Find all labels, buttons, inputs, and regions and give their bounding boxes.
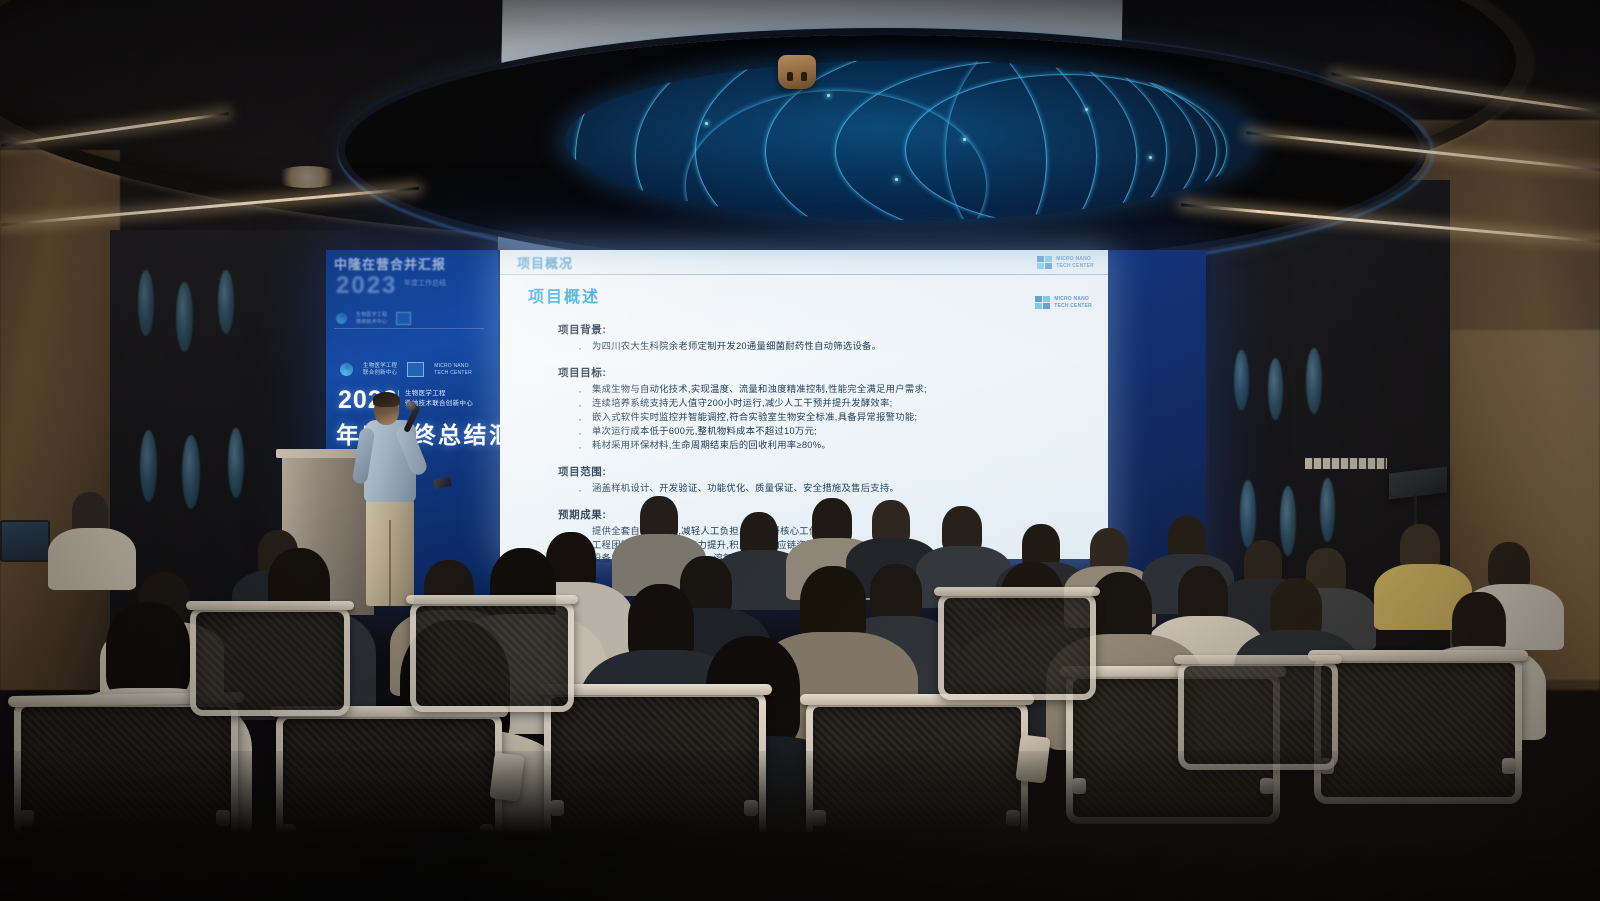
slide-header-bar: 项目概况 MICRO NANOTECH CENTER [500, 250, 1108, 275]
banner-divider [334, 328, 484, 329]
audience-body [48, 528, 136, 590]
presentation-slide: 项目概况 MICRO NANOTECH CENTER 项目概述 MICRO NA… [500, 250, 1108, 559]
section-bullet: 单次运行成本低于600元,整机物料成本不超过10万元; [558, 425, 1082, 439]
banner-header-number-sub: 年度工作总结 [404, 278, 446, 288]
logo-line-1: MICRO NANO [1054, 296, 1089, 302]
audience-head [1488, 542, 1530, 590]
section-bullet: 为四川农大生科院余老师定制开发20通量细菌耐药性自动筛选设备。 [558, 340, 1082, 354]
ceiling-spot-light [272, 166, 342, 188]
section-heading: 项目背景: [558, 322, 1082, 337]
slide-header-title: 项目概况 [517, 253, 573, 272]
ceiling-hanging-microphone [778, 55, 816, 89]
micro-nano-logo-icon [1035, 296, 1050, 309]
confidence-monitor [0, 520, 50, 562]
slide-title: 项目概述 [528, 283, 600, 307]
slide-section: 项目背景: 为四川农大生科院余老师定制开发20通量细菌耐药性自动筛选设备。 [558, 322, 1082, 354]
banner-top-logos: 生物医学工程微纳技术中心 [336, 312, 411, 325]
chair[interactable] [190, 606, 350, 716]
slide-header-logo: MICRO NANOTECH CENTER [1037, 256, 1094, 270]
audience-head [1452, 592, 1506, 654]
tech-center-logo-icon [396, 312, 411, 325]
banner-logos: 生物医学工程联合创新中心 MICRO NANOTECH CENTER [340, 362, 472, 377]
section-bullet: 集成生物与自动化技术,实现温度、流量和浊度精准控制,性能完全满足用户需求; [558, 383, 1082, 397]
section-heading: 项目范围: [558, 464, 1082, 479]
tech-center-logo-icon [407, 362, 424, 377]
slide-section: 项目范围: 涵盖样机设计、开发验证、功能优化、质量保证、安全措施及售后支持。 [558, 464, 1082, 496]
section-bullet: 嵌入式软件实时监控并智能调控,符合实验室生物安全标准,具备异常报警功能; [558, 411, 1082, 425]
slide-section: 项目目标: 集成生物与自动化技术,实现温度、流量和浊度精准控制,性能完全满足用户… [558, 365, 1082, 453]
equipment-rack [1305, 458, 1387, 469]
section-bullet: 耗材采用环保材料,生命周期结束后的回收利用率≥80%。 [558, 439, 1082, 453]
logo-line-2: TECH CENTER [1054, 303, 1092, 309]
chair[interactable] [938, 592, 1096, 700]
circuit-sphere-graphic [565, 60, 1255, 220]
banner-header-number: 2023 [336, 272, 397, 300]
banner-header-text: 中隆在营合并汇报 [334, 254, 492, 273]
section-bullet: 连续培养系统支持无人值守200小时运行,减少人工干预并提升发酵效率; [558, 397, 1082, 411]
chair[interactable] [410, 600, 574, 712]
slide-logo: MICRO NANO TECH CENTER [1035, 296, 1092, 310]
floor [0, 751, 1600, 901]
org-logo-icon [336, 313, 347, 324]
conference-hall-scene: 集成生物与自动化技术,实现温度、流量和浊度精准控制,性能完全满足用户需求; 连续… [0, 0, 1600, 901]
wood-wall-left [0, 150, 120, 690]
audience-head [106, 602, 190, 698]
org-logo-icon [340, 363, 353, 376]
section-bullet: 涵盖样机设计、开发验证、功能优化、质量保证、安全措施及售后支持。 [558, 482, 1082, 496]
section-heading: 项目目标: [558, 365, 1082, 380]
audience-head [1270, 578, 1322, 638]
audience-head [870, 564, 922, 624]
